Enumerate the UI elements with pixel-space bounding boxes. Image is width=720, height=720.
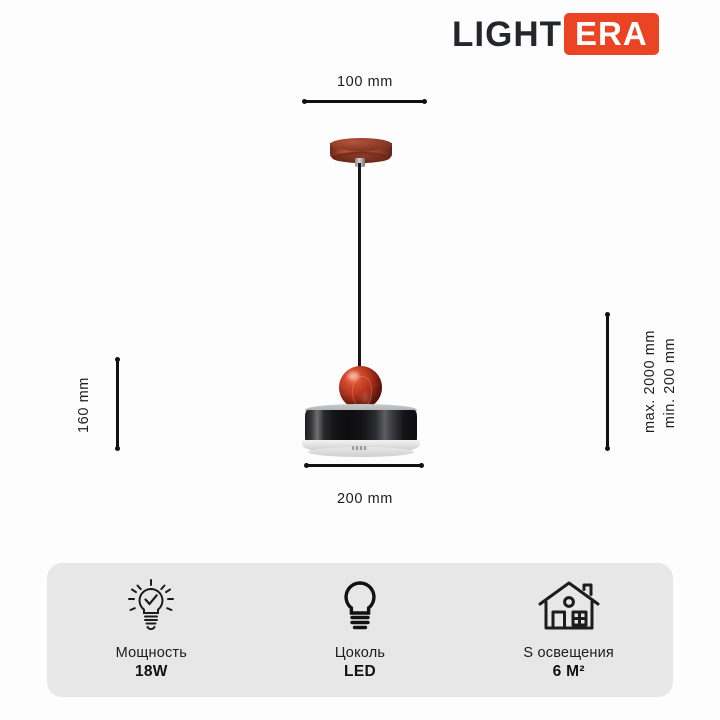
product-spec-card: LIGHT ERA 100 mm 200 mm 160 mm [0,0,720,720]
house-icon [536,577,602,637]
shade-body [305,410,417,444]
spec-item-area: S освещения 6 М² [464,563,673,697]
bulb-check-icon [123,577,179,637]
dimension-label-suspension-min: min. 200 mm [662,333,678,433]
specification-panel: Мощность 18W Цоколь LED [47,563,673,697]
led-module [352,446,368,450]
spec-label-socket: Цоколь [335,644,385,662]
spec-label-area: S освещения [523,644,614,662]
suspension-cord [358,163,361,375]
spec-item-socket: Цоколь LED [256,563,465,697]
spec-value-socket: LED [344,662,376,683]
bulb-icon [335,577,385,637]
spec-value-area: 6 М² [553,662,585,683]
dimension-label-height: 160 mm [76,370,92,440]
spec-value-power: 18W [135,662,168,683]
pendant-lamp-illustration [0,0,720,540]
dimension-line-bottom-width [305,464,423,467]
sphere-highlight-primary [348,372,359,380]
dimension-line-suspension [606,313,609,450]
canopy-top-face [330,138,392,151]
spec-item-power: Мощность 18W [47,563,256,697]
dimension-label-bottom-width: 200 mm [300,491,430,507]
dimension-label-suspension-max: max. 2000 mm [642,333,658,433]
spec-label-power: Мощность [116,644,187,662]
dimension-line-height [116,358,119,450]
